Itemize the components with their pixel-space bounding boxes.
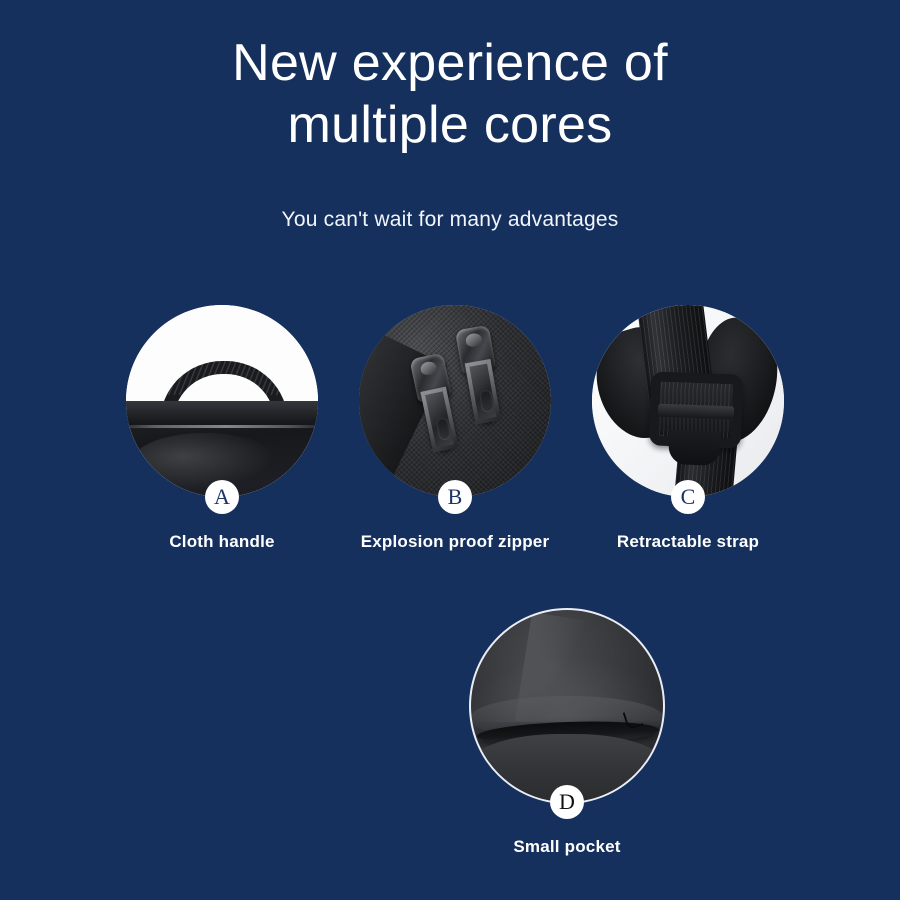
feature-circle-a: A bbox=[126, 305, 318, 497]
fabric-sheen bbox=[132, 433, 278, 491]
strap-adjuster-buckle bbox=[649, 371, 744, 448]
zipper-pull-tab-right bbox=[465, 359, 501, 425]
explosion-proof-zipper-photo bbox=[359, 305, 551, 497]
feature-caption-b: Explosion proof zipper bbox=[355, 532, 555, 552]
feature-badge-c: C bbox=[671, 480, 705, 514]
zipper-illustration bbox=[359, 305, 551, 497]
feature-badge-b: B bbox=[438, 480, 472, 514]
feature-item-cloth-handle: A Cloth handle bbox=[122, 305, 322, 552]
feature-caption-d: Small pocket bbox=[467, 837, 667, 857]
feature-circle-c: C bbox=[592, 305, 784, 497]
bag-seam-highlight bbox=[126, 425, 318, 428]
feature-circle-b: B bbox=[359, 305, 551, 497]
feature-item-explosion-proof-zipper: B Explosion proof zipper bbox=[355, 305, 555, 552]
cloth-handle-illustration bbox=[126, 305, 318, 497]
zipper-teeth bbox=[359, 316, 364, 497]
small-pocket-illustration bbox=[471, 610, 663, 802]
page-title: New experience of multiple cores bbox=[0, 0, 900, 156]
feature-item-retractable-strap: C Retractable strap bbox=[588, 305, 788, 552]
strap-illustration bbox=[592, 305, 784, 497]
retractable-strap-photo bbox=[592, 305, 784, 497]
feature-badge-d: D bbox=[550, 785, 584, 819]
feature-circle-d: D bbox=[471, 610, 663, 802]
bag-top-edge-shape bbox=[126, 401, 318, 427]
buckle-center-bar bbox=[658, 404, 734, 420]
feature-badge-a: A bbox=[205, 480, 239, 514]
cloth-handle-photo bbox=[126, 305, 318, 497]
header: New experience of multiple cores You can… bbox=[0, 0, 900, 232]
feature-item-small-pocket: D Small pocket bbox=[467, 610, 667, 857]
page-subtitle: You can't wait for many advantages bbox=[0, 208, 900, 232]
page-title-line-2: multiple cores bbox=[0, 94, 900, 156]
small-pocket-photo bbox=[471, 610, 663, 802]
buckle-tongue bbox=[668, 430, 721, 466]
page-title-line-1: New experience of bbox=[0, 32, 900, 94]
feature-caption-c: Retractable strap bbox=[588, 532, 788, 552]
feature-caption-a: Cloth handle bbox=[122, 532, 322, 552]
